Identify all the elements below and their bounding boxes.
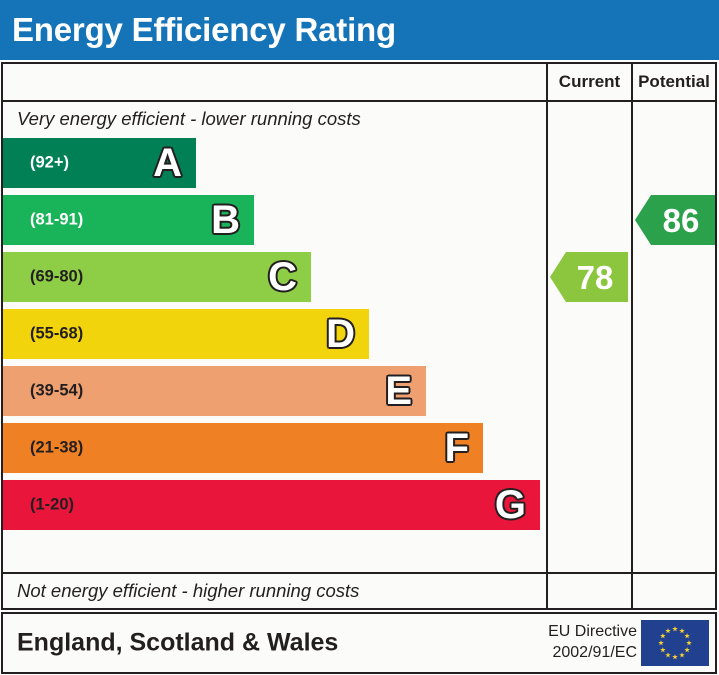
top-efficiency-note: Very energy efficient - lower running co… [17, 102, 361, 136]
rating-band-e: (39-54)E [3, 366, 426, 416]
eu-flag-icon [641, 620, 709, 666]
chart-footer: England, Scotland & Wales EU Directive 2… [1, 612, 717, 674]
footer-region-label: England, Scotland & Wales [17, 629, 338, 658]
band-letter-a: A [153, 143, 182, 183]
rating-band-g: (1-20)G [3, 480, 540, 530]
rating-band-c: (69-80)C [3, 252, 311, 302]
rating-bands: (92+)A(81-91)B(69-80)C(55-68)D(39-54)E(2… [3, 138, 544, 574]
band-letter-d: D [326, 314, 355, 354]
potential-rating-value: 86 [651, 204, 700, 237]
band-range-label: (21-38) [30, 439, 83, 458]
page-title: Energy Efficiency Rating [12, 11, 396, 49]
rating-band-f: (21-38)F [3, 423, 483, 473]
current-column-separator [546, 64, 548, 608]
chart-title-bar: Energy Efficiency Rating [0, 0, 719, 60]
band-letter-c: C [268, 257, 297, 297]
footer-directive: EU Directive 2002/91/EC [548, 622, 637, 664]
band-range-label: (92+) [30, 154, 69, 173]
band-letter-b: B [211, 200, 240, 240]
band-range-label: (55-68) [30, 325, 83, 344]
directive-line-1: EU Directive [548, 622, 637, 643]
energy-efficiency-rating-chart: Energy Efficiency Rating Current Potenti… [0, 0, 719, 675]
band-range-label: (39-54) [30, 382, 83, 401]
column-header-potential: Potential [633, 64, 715, 100]
potential-rating-arrow: 86 [635, 195, 715, 245]
current-rating-arrow: 78 [550, 252, 628, 302]
bottom-efficiency-note: Not energy efficient - higher running co… [17, 574, 359, 608]
band-letter-f: F [445, 428, 469, 468]
band-range-label: (81-91) [30, 211, 83, 230]
band-letter-e: E [385, 371, 412, 411]
ratings-table: Current Potential Very energy efficient … [1, 62, 717, 610]
column-header-current: Current [548, 64, 631, 100]
directive-line-2: 2002/91/EC [548, 643, 637, 664]
band-range-label: (1-20) [30, 496, 74, 515]
band-letter-g: G [495, 485, 526, 525]
band-range-label: (69-80) [30, 268, 83, 287]
current-rating-value: 78 [565, 261, 614, 294]
rating-band-a: (92+)A [3, 138, 196, 188]
rating-band-d: (55-68)D [3, 309, 369, 359]
potential-column-separator [631, 64, 633, 608]
rating-band-b: (81-91)B [3, 195, 254, 245]
